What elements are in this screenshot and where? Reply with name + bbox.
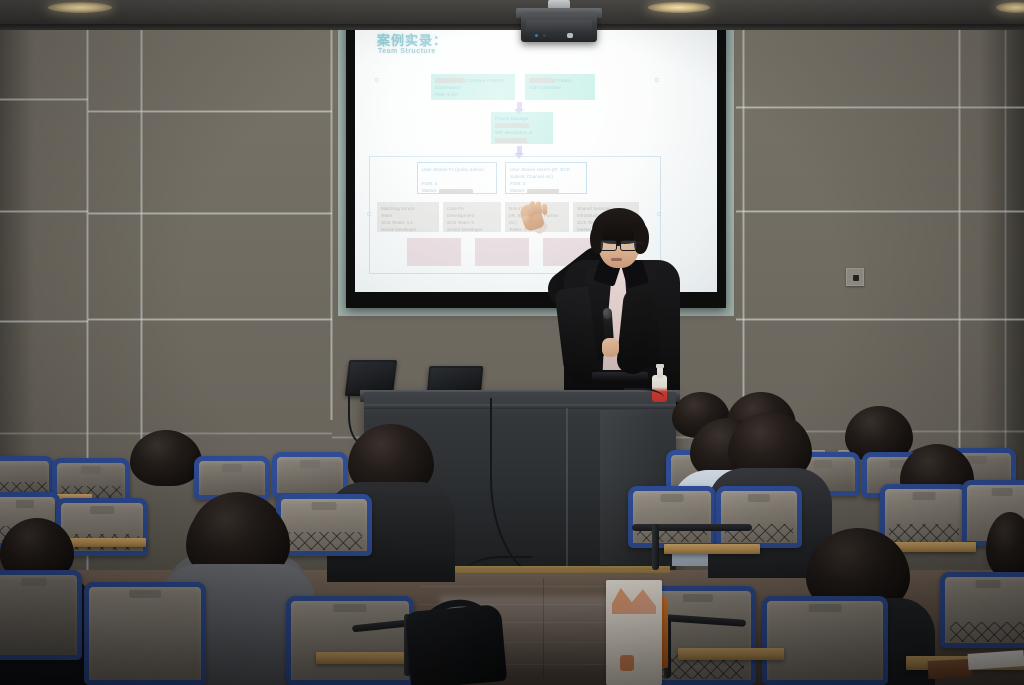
wall-trim-right-2: [736, 210, 1024, 213]
slide-box-user-stories-fa: User Stories FA (policy admin)FOM: 4Mast…: [417, 162, 497, 194]
black-backpack-aisle: [405, 604, 507, 685]
wall-seam-vertical-2: [140, 30, 143, 470]
audience-person-mid-2: [348, 424, 434, 496]
booklet-right-desk: [928, 659, 973, 679]
projector-icon: [521, 14, 597, 42]
wall-trim-left-6: [88, 318, 332, 321]
slide-corner-dot-right: [655, 78, 659, 82]
seat-r1-l1[interactable]: [0, 570, 82, 660]
slide-arrow-1-icon: [517, 102, 522, 110]
podium-panel-seam: [566, 408, 568, 568]
ceiling-light-center-right-icon: [648, 2, 710, 13]
seat-r1-l2[interactable]: [84, 582, 206, 685]
audience-person-mid-4: [728, 412, 812, 482]
wall-seam-vertical-6: [1004, 30, 1007, 480]
desk-r1-left: [316, 652, 416, 664]
slide-box-project-manager: Project Manager with attendance of: [491, 112, 553, 144]
slide-group-dot-left: [367, 212, 371, 216]
seat-r2-r1[interactable]: [628, 486, 716, 548]
presenter-mic-hand: [602, 338, 619, 357]
wall-trim-left-5: [0, 320, 88, 323]
slide-box-product-subcommittee: ProductSub-Committee: [525, 74, 595, 100]
glasses-bridge-icon: [617, 244, 621, 246]
white-shopping-bag: [606, 580, 662, 685]
wall-trim-left-1: [0, 98, 88, 101]
glasses-left-lens-icon: [600, 240, 617, 251]
stage-edge-trim: [420, 566, 670, 573]
seat-r1-r3[interactable]: [940, 572, 1024, 648]
seat-r2-r2[interactable]: [716, 486, 802, 548]
presenter-mouth: [611, 258, 622, 261]
wall-seam-vertical-5: [958, 30, 961, 480]
ceiling-light-left-icon: [48, 2, 112, 13]
seat-r1-r2[interactable]: [762, 596, 888, 685]
audience-person-back-1: [130, 430, 202, 486]
ceiling-edge: [0, 24, 1024, 30]
slide-arrow-2-icon: [517, 146, 522, 154]
slide-box-user-stories-nonfa: User Stories NonFA (IR, BCP,Submit, Chan…: [505, 162, 587, 194]
wall-trim-left-2: [88, 110, 332, 113]
glasses-right-lens-icon: [620, 240, 637, 251]
wall-trim-left-4: [88, 212, 332, 215]
lecture-hall-scene: 案例实录： Team Structure Company Projects Go…: [0, 0, 1024, 685]
desk-r1-right: [678, 648, 784, 660]
seat-r1-l3[interactable]: [286, 596, 414, 685]
slide-box-footer-1: [407, 238, 461, 266]
wall-trim-right-3: [736, 318, 1024, 321]
slide-title: 案例实录：: [377, 30, 447, 49]
row-rail-post-right: [652, 524, 659, 570]
audience-person-front-4: [986, 512, 1024, 578]
audience-person-front-2: [186, 496, 290, 582]
slide-subtitle: Team Structure: [378, 48, 436, 55]
desk-r2-right: [664, 544, 760, 554]
slide-box-company-projects: Company Projects GovernancePMO & QA: [431, 74, 515, 100]
presenter-belt: [592, 372, 648, 380]
slide-box-team-2: Core FADevelopmentSCS Team: 5Scrum Devel…: [443, 202, 501, 232]
av-wall-plate-icon: [846, 268, 864, 286]
slide-box-team-1: Matching ScrumTeamSCS Tester: 1,1Scrum D…: [377, 202, 439, 232]
wall-trim-left-3: [0, 210, 88, 213]
row-rail-right: [632, 524, 752, 531]
wall-trim-right-1: [736, 106, 1024, 109]
slide-corner-dot-left: [375, 78, 379, 82]
desk-r2-left: [62, 538, 146, 547]
wall-seam-vertical-3: [330, 30, 333, 420]
seat-r2-l3[interactable]: [276, 494, 372, 556]
